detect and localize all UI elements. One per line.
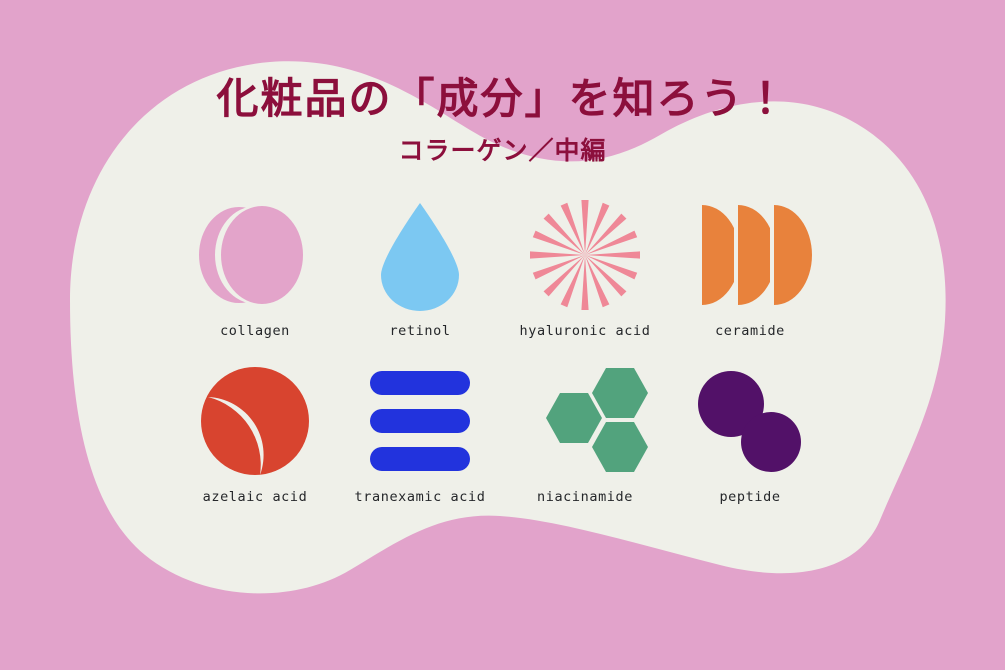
ingredient-item-niacinamide[interactable]: niacinamide [503, 361, 668, 505]
ingredient-item-hyaluronic-acid[interactable]: hyaluronic acid [503, 195, 668, 339]
molecule-dumbbell-icon [687, 361, 813, 481]
water-drop-icon [357, 195, 483, 315]
ingredient-item-retinol[interactable]: retinol [338, 195, 503, 339]
two-overlapping-circles-icon [192, 195, 318, 315]
title-block: 化粧品の「成分」を知ろう！ コラーゲン／中編 [216, 78, 788, 163]
three-half-circles-icon [687, 195, 813, 315]
ingredient-label: hyaluronic acid [520, 323, 651, 339]
page-subtitle: コラーゲン／中編 [216, 138, 788, 163]
starburst-icon [522, 195, 648, 315]
ingredient-item-peptide[interactable]: peptide [668, 361, 833, 505]
ingredient-grid: collagen retinol [173, 195, 833, 505]
ingredient-label: peptide [719, 489, 780, 505]
ingredient-label: collagen [220, 323, 290, 339]
ingredient-item-tranexamic-acid[interactable]: tranexamic acid [338, 361, 503, 505]
ingredient-label: niacinamide [537, 489, 633, 505]
three-bars-icon [357, 361, 483, 481]
crescent-circle-icon [192, 361, 318, 481]
ingredient-item-azelaic-acid[interactable]: azelaic acid [173, 361, 338, 505]
ingredient-label: retinol [389, 323, 450, 339]
poster-content: 化粧品の「成分」を知ろう！ コラーゲン／中編 collagen [0, 0, 1005, 670]
ingredient-item-collagen[interactable]: collagen [173, 195, 338, 339]
poster-canvas: 化粧品の「成分」を知ろう！ コラーゲン／中編 collagen [0, 0, 1005, 670]
ingredient-label: azelaic acid [203, 489, 308, 505]
ingredient-item-ceramide[interactable]: ceramide [668, 195, 833, 339]
page-title: 化粧品の「成分」を知ろう！ [216, 78, 788, 120]
ingredient-label: tranexamic acid [355, 489, 486, 505]
honeycomb-hexagons-icon [522, 361, 648, 481]
ingredient-label: ceramide [715, 323, 785, 339]
